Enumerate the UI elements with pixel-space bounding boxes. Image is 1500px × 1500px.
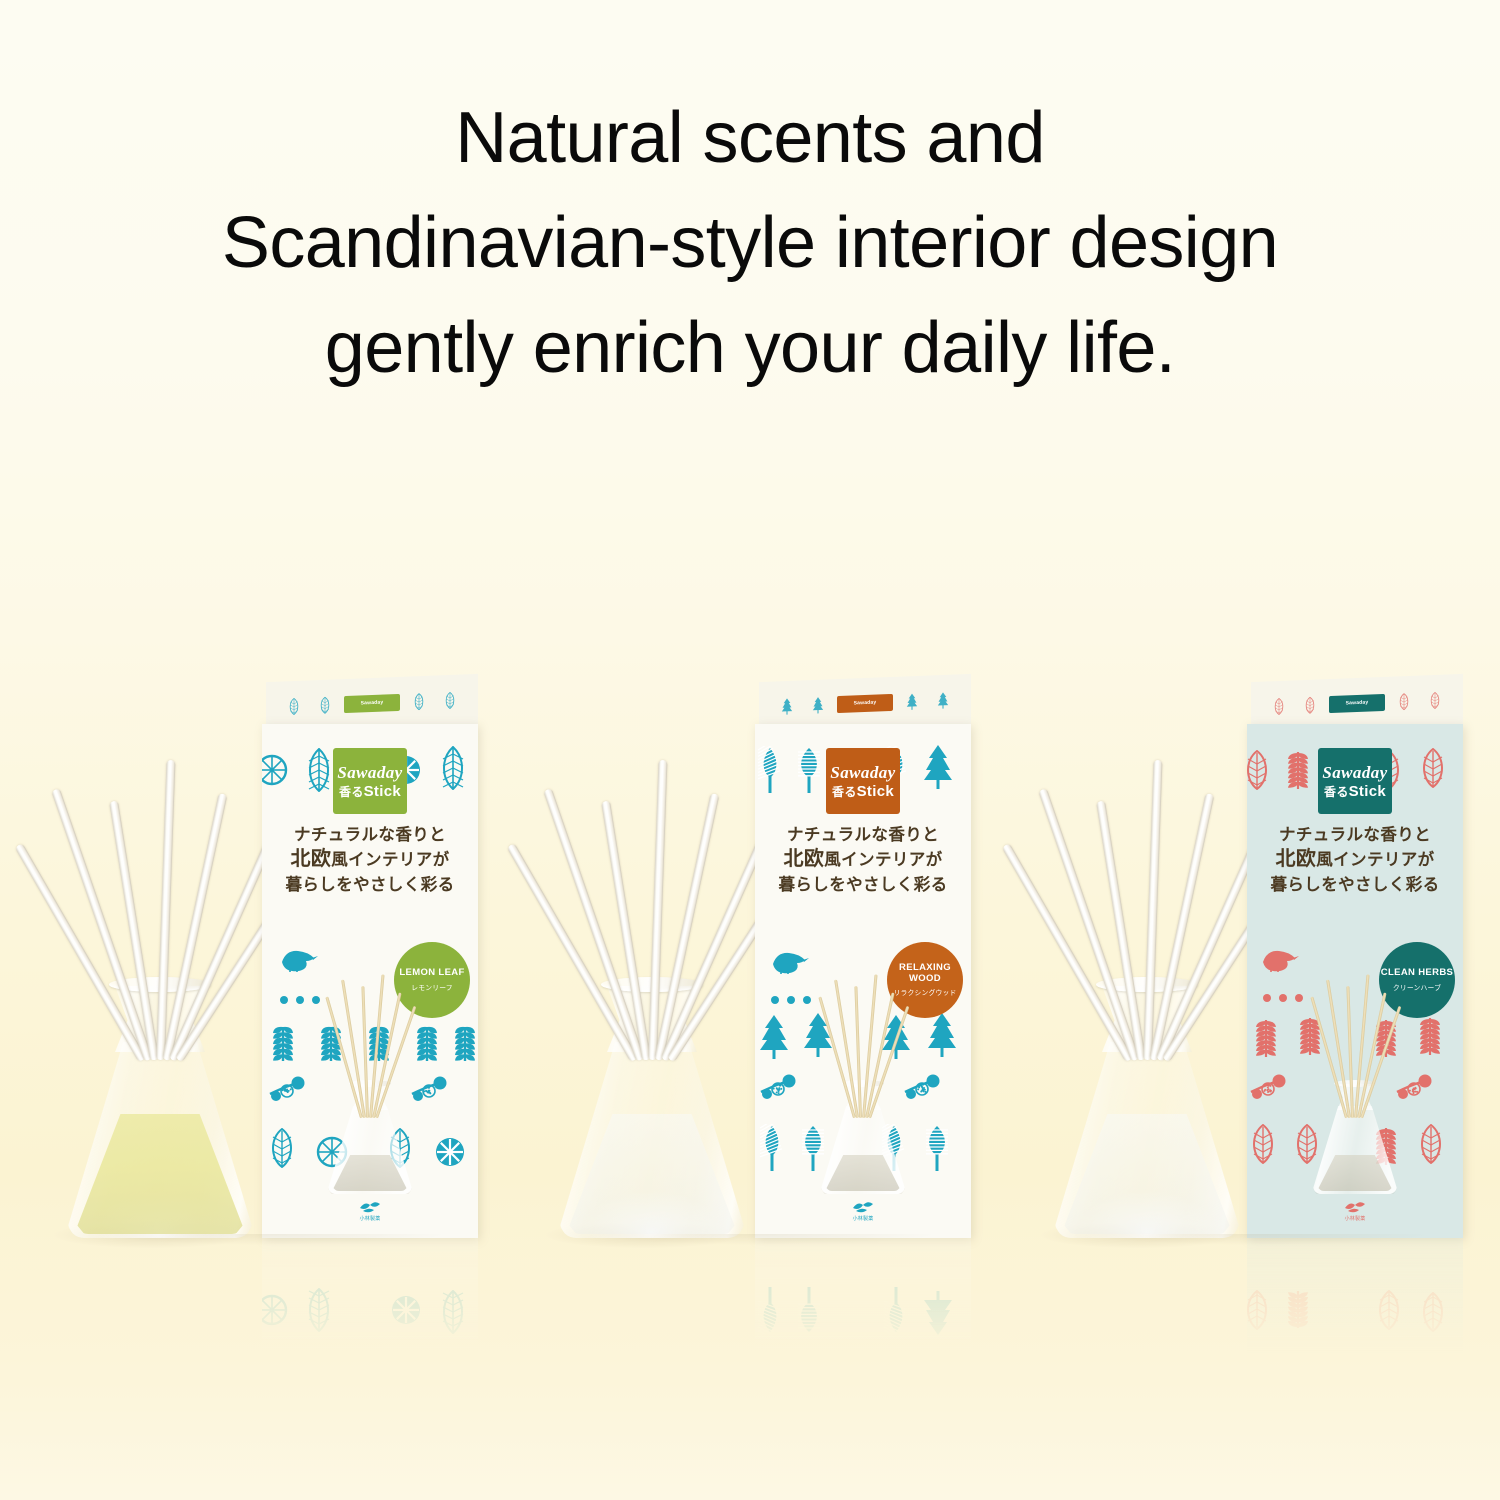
flap-motif-icon: [1298, 696, 1322, 714]
tagline-line-1: ナチュラルな香りと: [755, 824, 971, 846]
package-tagline: ナチュラルな香りと北欧風インテリアが暮らしをやさしく彩る: [1247, 824, 1463, 896]
flap-motif-icon: [1392, 692, 1416, 710]
surface-reflection: [530, 1238, 1000, 1356]
flap-motif-icon: [1423, 691, 1447, 709]
flap-motif-icon: [407, 692, 431, 710]
scent-name-jp: レモンリーフ: [411, 982, 453, 992]
brand-logo-badge: Sawaday香るStick: [333, 748, 407, 814]
flap-motif-icon: [1267, 697, 1291, 715]
kobayashi-logo: 小林製薬: [852, 1200, 874, 1222]
reed-sticks: [60, 730, 260, 1060]
product-box-lemon-leaf[interactable]: SawadaySawaday香るStickナチュラルな香りと北欧風インテリアが暮…: [262, 678, 478, 1238]
surface-reflection: [40, 1238, 510, 1356]
box-front-face: Sawaday香るStickナチュラルな香りと北欧風インテリアが暮らしをやさしく…: [755, 724, 971, 1238]
box-bottle-illustration: [324, 996, 416, 1194]
brand-name-script: Sawaday: [830, 764, 895, 781]
flap-motif-icon: [900, 692, 924, 710]
brand-name-stick: 香るStick: [1324, 784, 1386, 799]
box-reed-stick: [1360, 1006, 1401, 1119]
box-reed-stick: [1310, 996, 1348, 1118]
tagline-line-2: 北欧風インテリアが: [755, 846, 971, 873]
tagline-line-3: 暮らしをやさしく彩る: [1247, 874, 1463, 896]
maker-name: 小林製薬: [360, 1215, 381, 1222]
flap-motif-icon: [282, 697, 306, 715]
maker-name: 小林製薬: [853, 1215, 874, 1222]
box-front-face: Sawaday香るStickナチュラルな香りと北欧風インテリアが暮らしをやさしく…: [1247, 724, 1463, 1238]
kobayashi-logo: 小林製薬: [1344, 1200, 1366, 1222]
product-group-clean-herbs[interactable]: SawadaySawaday香るStickナチュラルな香りと北欧風インテリアが暮…: [1025, 638, 1495, 1238]
tagline-line-1: ナチュラルな香りと: [1247, 824, 1463, 846]
brand-name-script: Sawaday: [1322, 764, 1387, 781]
tagline-line-3: 暮らしをやさしく彩る: [755, 874, 971, 896]
flap-motif-icon: [775, 697, 799, 715]
tagline-line-2: 北欧風インテリアが: [262, 846, 478, 873]
flap-motif-icon: [806, 696, 830, 714]
product-box-relaxing-wood[interactable]: SawadaySawaday香るStickナチュラルな香りと北欧風インテリアが暮…: [755, 678, 971, 1238]
scent-name-en: LEMON LEAF: [399, 968, 464, 979]
brand-logo-badge: Sawaday香るStick: [826, 748, 900, 814]
scent-name-en: CLEAN HERBS: [1381, 968, 1453, 979]
diffuser-bottle-relaxing-wood: [552, 748, 752, 1238]
tagline-line-3: 暮らしをやさしく彩る: [262, 874, 478, 896]
brand-name-script: Sawaday: [337, 764, 402, 781]
package-tagline: ナチュラルな香りと北欧風インテリアが暮らしをやさしく彩る: [262, 824, 478, 896]
flap-motif-icon: [438, 691, 462, 709]
kobayashi-mark-icon: [1344, 1200, 1366, 1213]
reed-sticks: [1047, 730, 1247, 1060]
box-reed-stick: [375, 1006, 416, 1119]
reed-sticks: [552, 730, 752, 1060]
box-reed-stick: [325, 996, 363, 1118]
scent-name-en: RELAXING WOOD: [887, 963, 963, 984]
tagline-line-1: ナチュラルな香りと: [262, 824, 478, 846]
box-bottle-illustration: [817, 996, 909, 1194]
kobayashi-mark-icon: [359, 1200, 381, 1213]
package-tagline: ナチュラルな香りと北欧風インテリアが暮らしをやさしく彩る: [755, 824, 971, 896]
kobayashi-logo: 小林製薬: [359, 1200, 381, 1222]
box-front-face: Sawaday香るStickナチュラルな香りと北欧風インテリアが暮らしをやさしく…: [262, 724, 478, 1238]
surface-reflection: [1025, 1238, 1495, 1356]
flap-brand-badge: Sawaday: [344, 693, 400, 712]
brand-name-stick: 香るStick: [339, 784, 401, 799]
product-box-clean-herbs[interactable]: SawadaySawaday香るStickナチュラルな香りと北欧風インテリアが暮…: [1247, 678, 1463, 1238]
product-stage: SawadaySawaday香るStickナチュラルな香りと北欧風インテリアが暮…: [0, 0, 1500, 1500]
flap-motif-icon: [931, 691, 955, 709]
box-reed-stick: [818, 996, 856, 1118]
maker-name: 小林製薬: [1345, 1215, 1366, 1222]
product-group-lemon-leaf[interactable]: SawadaySawaday香るStickナチュラルな香りと北欧風インテリアが暮…: [40, 638, 510, 1238]
floor-shadow: [40, 1234, 510, 1250]
tagline-line-2: 北欧風インテリアが: [1247, 846, 1463, 873]
box-reed-stick: [868, 1006, 909, 1119]
floor-shadow: [530, 1234, 1000, 1250]
diffuser-bottle-clean-herbs: [1047, 748, 1247, 1238]
diffuser-bottle-lemon-leaf: [60, 748, 260, 1238]
brand-logo-badge: Sawaday香るStick: [1318, 748, 1392, 814]
floor-shadow: [1025, 1234, 1495, 1250]
product-group-relaxing-wood[interactable]: SawadaySawaday香るStickナチュラルな香りと北欧風インテリアが暮…: [530, 638, 1000, 1238]
brand-name-stick: 香るStick: [832, 784, 894, 799]
flap-motif-icon: [313, 696, 337, 714]
box-bottle-illustration: [1309, 996, 1401, 1194]
kobayashi-mark-icon: [852, 1200, 874, 1213]
flap-brand-badge: Sawaday: [837, 693, 893, 712]
flap-brand-badge: Sawaday: [1329, 693, 1385, 712]
